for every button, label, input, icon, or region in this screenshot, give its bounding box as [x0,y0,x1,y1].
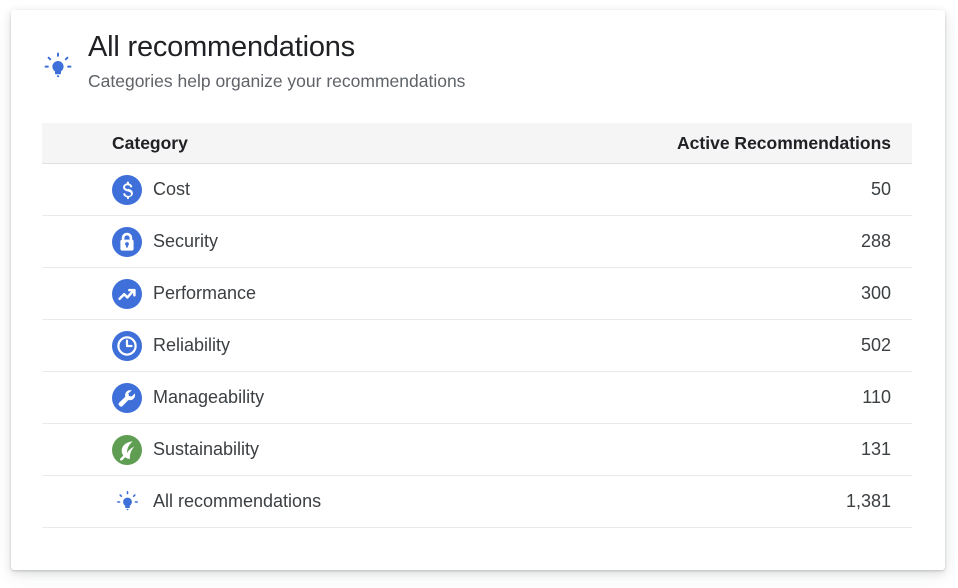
category-label: All recommendations [153,491,321,512]
lightbulb-icon [115,489,140,514]
table-header-row: Category Active Recommendations [42,123,912,164]
category-label: Reliability [153,335,230,356]
card-header: All recommendations Categories help orga… [11,10,945,123]
leaf-icon [111,434,143,466]
active-recommendations-value: 300 [861,283,912,304]
column-header-category: Category [42,133,677,154]
dollar-sign-icon [111,174,143,206]
active-recommendations-value: 502 [861,335,912,356]
column-header-active-recommendations: Active Recommendations [677,133,912,154]
category-label: Security [153,231,218,252]
category-label: Sustainability [153,439,259,460]
trending-up-icon [111,278,143,310]
table-row[interactable]: Sustainability 131 [42,424,912,476]
table-row[interactable]: Performance 300 [42,268,912,320]
recommendations-table: Category Active Recommendations Cost 50 [42,123,912,528]
wrench-icon [111,382,143,414]
category-label: Manageability [153,387,264,408]
recommendations-card: All recommendations Categories help orga… [11,10,945,570]
category-label: Cost [153,179,190,200]
page-title: All recommendations [88,29,925,65]
table-row[interactable]: Manageability 110 [42,372,912,424]
category-cell: Cost [42,174,871,206]
active-recommendations-value: 110 [862,387,912,408]
table-row[interactable]: All recommendations 1,381 [42,476,912,528]
category-label: Performance [153,283,256,304]
table-row[interactable]: Cost 50 [42,164,912,216]
table-row[interactable]: Security 288 [42,216,912,268]
page-subtitle: Categories help organize your recommenda… [88,69,925,93]
category-cell: Manageability [42,382,862,414]
clock-icon [111,330,143,362]
lock-icon [111,226,143,258]
active-recommendations-value: 1,381 [846,491,912,512]
category-cell: All recommendations [42,489,846,514]
table-row[interactable]: Reliability 502 [42,320,912,372]
category-cell: Sustainability [42,434,861,466]
category-cell: Reliability [42,330,861,362]
active-recommendations-value: 131 [861,439,912,460]
header-text-block: All recommendations Categories help orga… [88,29,925,93]
category-cell: Security [42,226,861,258]
active-recommendations-value: 50 [871,179,912,200]
active-recommendations-value: 288 [861,231,912,252]
lightbulb-icon [42,50,74,82]
category-cell: Performance [42,278,861,310]
